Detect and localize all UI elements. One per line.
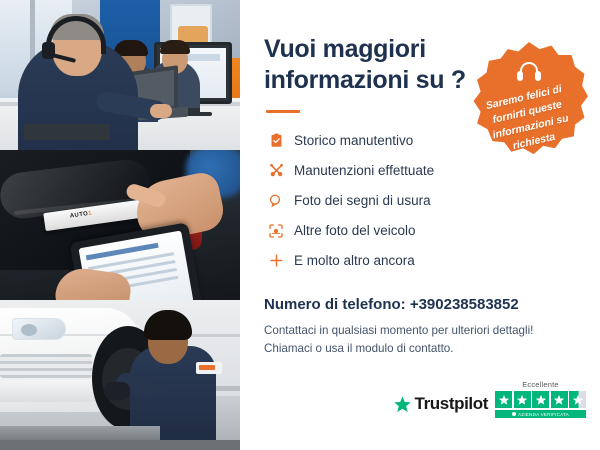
contact-subtext-line-1: Contattaci in qualsiasi momento per ulte… [264, 322, 578, 340]
car-headlight [12, 318, 66, 340]
title-divider [266, 110, 300, 113]
headset-icon [517, 62, 541, 84]
star-filled [551, 391, 568, 408]
contact-subtext-line-2: Chiamaci o usa il modulo di contatto. [264, 340, 578, 358]
car-bumper [0, 380, 104, 402]
star-half [569, 391, 586, 408]
car-inspection-photo: AUTO1 [0, 150, 240, 300]
plus-icon [264, 252, 288, 269]
workshop-floor [0, 440, 240, 450]
promo-poster: AUTO1 V [0, 0, 600, 450]
trustpilot-widget[interactable]: Trustpilot Eccellente AZIENDA VERIFICATA [393, 380, 586, 418]
verified-label: AZIENDA VERIFICATA [518, 412, 569, 417]
feature-item: E molto altro ancora [264, 247, 578, 274]
headset-cup-right [535, 71, 541, 81]
clipboard-check-icon [264, 133, 288, 148]
feature-label: Manutenzioni effettuate [294, 163, 434, 178]
feature-item: Altre foto del veicolo [264, 217, 578, 244]
trustpilot-star-icon [393, 395, 412, 414]
star-rating [495, 391, 586, 408]
feature-label: E molto altro ancora [294, 253, 415, 268]
feature-item: Foto dei segni di usura [264, 187, 578, 214]
feature-label: Storico manutentivo [294, 133, 413, 148]
photo-frame-icon [264, 223, 288, 239]
mechanic-photo [0, 300, 240, 450]
feature-label: Foto dei segni di usura [294, 193, 431, 208]
rating-label: Eccellente [522, 380, 559, 389]
page-title: Vuoi maggiori informazioni su ? [264, 34, 494, 95]
verified-badge: AZIENDA VERIFICATA [495, 410, 586, 418]
star-filled [532, 391, 549, 408]
trustpilot-wordmark: Trustpilot [415, 394, 488, 414]
headset-cup-left [517, 71, 523, 81]
contact-subtext: Contattaci in qualsiasi momento per ulte… [264, 322, 578, 358]
verified-check-icon [512, 412, 516, 416]
mechanic-glove [104, 382, 130, 400]
keyboard [24, 124, 110, 140]
phone-number: Numero di telefono: +390238583852 [264, 296, 578, 313]
gauge-brand-label: AUTO1 [70, 211, 93, 220]
photo-strip: AUTO1 [0, 0, 240, 450]
car-grille [0, 354, 92, 378]
call-center-photo [0, 0, 240, 150]
feature-label: Altre foto del veicolo [294, 223, 416, 238]
content-panel: Vuoi maggiori informazioni su ? Saremo f… [240, 0, 600, 450]
worker-3-hair [160, 40, 190, 54]
tools-cross-icon [264, 162, 288, 179]
magnifier-icon [264, 193, 288, 209]
trustpilot-logo: Trustpilot [393, 394, 488, 418]
star-filled [514, 391, 531, 408]
uniform-logo-patch [196, 362, 222, 374]
worker-1-hand [150, 104, 172, 118]
feature-item: Manutenzioni effettuate [264, 157, 578, 184]
star-filled [495, 391, 512, 408]
trustpilot-rating: Eccellente AZIENDA VERIFICATA [495, 380, 586, 418]
callout-badge: Saremo felici di fornirti queste informa… [470, 42, 588, 160]
